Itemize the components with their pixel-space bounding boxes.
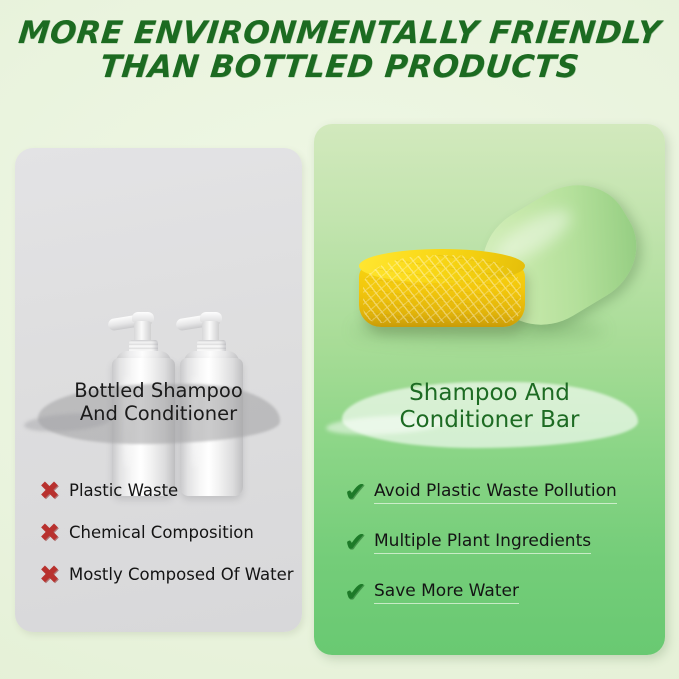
right-panel-heading: Shampoo And Conditioner Bar [314, 380, 665, 433]
right-feature-list: ✔ Avoid Plastic Waste Pollution ✔ Multip… [314, 479, 665, 629]
left-feature-list: ✖ Plastic Waste ✖ Chemical Composition ✖… [15, 478, 302, 604]
list-item-label: Mostly Composed Of Water [69, 565, 294, 584]
list-item: ✔ Multiple Plant Ingredients [314, 529, 665, 556]
right-heading-line-2: Conditioner Bar [314, 407, 665, 434]
left-heading-line-2: And Conditioner [15, 403, 302, 426]
panel-bottled-products: Bottled Shampoo And Conditioner ✖ Plasti… [15, 148, 302, 632]
list-item-label: Save More Water [374, 581, 519, 604]
list-item-label: Avoid Plastic Waste Pollution [374, 481, 617, 504]
page-title-line-1: MORE ENVIRONMENTALLY FRIENDLY [0, 18, 679, 50]
list-item-label: Plastic Waste [69, 481, 178, 500]
left-panel-heading: Bottled Shampoo And Conditioner [15, 380, 302, 425]
infographic-root: MORE ENVIRONMENTALLY FRIENDLY THAN BOTTL… [0, 0, 679, 679]
check-icon: ✔ [344, 479, 374, 506]
cross-icon: ✖ [39, 562, 69, 587]
soap-bar-product-image [314, 154, 665, 409]
list-item: ✔ Avoid Plastic Waste Pollution [314, 479, 665, 506]
page-title-line-2: THAN BOTTLED PRODUCTS [0, 52, 679, 84]
panel-shampoo-bar: Shampoo And Conditioner Bar ✔ Avoid Plas… [314, 124, 665, 655]
check-icon: ✔ [344, 529, 374, 556]
yellow-soap-bar-icon [359, 249, 525, 331]
list-item: ✖ Chemical Composition [15, 520, 302, 545]
bottle-product-image [15, 176, 302, 506]
list-item: ✖ Mostly Composed Of Water [15, 562, 302, 587]
cross-icon: ✖ [39, 478, 69, 503]
right-heading-line-1: Shampoo And [314, 380, 665, 407]
right-heading-text: Shampoo And Conditioner Bar [314, 380, 665, 433]
list-item: ✖ Plastic Waste [15, 478, 302, 503]
yellow-bar-texture [363, 255, 521, 323]
check-icon: ✔ [344, 579, 374, 606]
list-item-label: Multiple Plant Ingredients [374, 531, 591, 554]
cross-icon: ✖ [39, 520, 69, 545]
list-item: ✔ Save More Water [314, 579, 665, 606]
page-title: MORE ENVIRONMENTALLY FRIENDLY THAN BOTTL… [0, 18, 679, 84]
left-heading-line-1: Bottled Shampoo [15, 380, 302, 403]
list-item-label: Chemical Composition [69, 523, 254, 542]
left-heading-text: Bottled Shampoo And Conditioner [15, 380, 302, 425]
